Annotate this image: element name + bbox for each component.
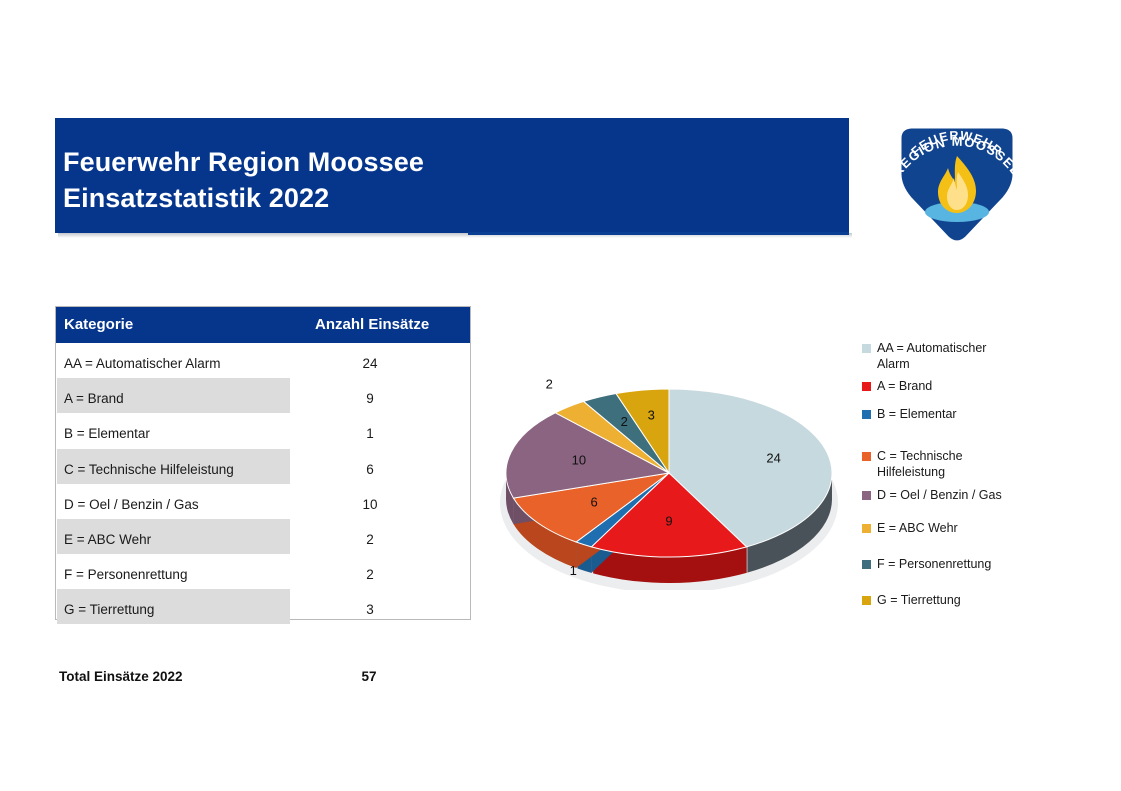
legend-item[interactable]: C = Technische Hilfeleistung [862, 448, 1007, 480]
table-cell-category: AA = Automatischer Alarm [64, 356, 220, 371]
table-cell-category: C = Technische Hilfeleistung [64, 462, 234, 477]
page-title-line2: Einsatzstatistik 2022 [63, 180, 849, 216]
legend-label: G = Tierrettung [877, 592, 961, 608]
table-row: G = Tierrettung3 [56, 589, 470, 624]
legend-label: D = Oel / Benzin / Gas [877, 487, 1002, 503]
slide-canvas: Feuerwehr Region Moossee Einsatzstatisti… [0, 0, 1121, 791]
table-header-count: Anzahl Einsätze [315, 316, 429, 333]
statistics-table: Kategorie Anzahl Einsätze AA = Automatis… [55, 306, 471, 620]
pie-data-label: 24 [766, 451, 780, 466]
table-cell-category: D = Oel / Benzin / Gas [64, 497, 199, 512]
pie-data-label: 2 [546, 376, 553, 391]
legend-item[interactable]: D = Oel / Benzin / Gas [862, 487, 1002, 503]
table-row: A = Brand9 [56, 378, 470, 413]
legend-color-swatch [862, 491, 871, 500]
table-cell-count: 3 [348, 602, 392, 617]
legend-label: E = ABC Wehr [877, 520, 958, 536]
total-row: Total Einsätze 2022 57 [55, 669, 471, 691]
banner-underline [468, 232, 849, 235]
pie-chart-svg: 2491610223 [486, 355, 856, 590]
pie-data-label: 3 [648, 408, 655, 423]
legend-color-swatch [862, 452, 871, 461]
table-row: D = Oel / Benzin / Gas10 [56, 484, 470, 519]
legend-label: AA = Automatischer Alarm [877, 340, 1007, 372]
table-cell-category: E = ABC Wehr [64, 532, 151, 547]
total-value: 57 [347, 669, 391, 684]
legend-label: B = Elementar [877, 406, 957, 422]
table-cell-category: B = Elementar [64, 426, 150, 441]
table-row: AA = Automatischer Alarm24 [56, 343, 470, 378]
table-cell-count: 2 [348, 567, 392, 582]
legend-color-swatch [862, 524, 871, 533]
table-cell-count: 1 [348, 426, 392, 441]
table-cell-category: A = Brand [64, 391, 124, 406]
feuerwehr-logo: FEUERWEHR REGION MOOSSEE [884, 112, 1030, 245]
legend-color-swatch [862, 344, 871, 353]
table-cell-category: F = Personenrettung [64, 567, 187, 582]
pie-data-label: 2 [621, 414, 628, 429]
legend-item[interactable]: B = Elementar [862, 406, 957, 422]
table-body: AA = Automatischer Alarm24A = Brand9B = … [56, 343, 470, 625]
table-cell-count: 24 [348, 356, 392, 371]
legend-item[interactable]: G = Tierrettung [862, 592, 961, 608]
legend-color-swatch [862, 410, 871, 419]
table-row: C = Technische Hilfeleistung6 [56, 449, 470, 484]
pie-chart: 2491610223 [486, 355, 856, 590]
table-header-category: Kategorie [64, 316, 133, 333]
table-cell-count: 9 [348, 391, 392, 406]
table-header-row: Kategorie Anzahl Einsätze [56, 307, 470, 343]
page-title-line1: Feuerwehr Region Moossee [63, 144, 849, 180]
table-row: E = ABC Wehr2 [56, 519, 470, 554]
legend-color-swatch [862, 382, 871, 391]
legend-color-swatch [862, 596, 871, 605]
table-row: B = Elementar1 [56, 413, 470, 448]
table-cell-count: 6 [348, 462, 392, 477]
pie-top-faces [506, 389, 832, 557]
legend-color-swatch [862, 560, 871, 569]
legend-item[interactable]: A = Brand [862, 378, 932, 394]
title-banner: Feuerwehr Region Moossee Einsatzstatisti… [55, 118, 849, 233]
legend-item[interactable]: E = ABC Wehr [862, 520, 958, 536]
pie-data-label: 10 [572, 453, 586, 468]
pie-data-label: 9 [665, 513, 672, 528]
pie-data-label: 6 [590, 495, 597, 510]
legend-item[interactable]: AA = Automatischer Alarm [862, 340, 1007, 372]
table-cell-category: G = Tierrettung [64, 602, 154, 617]
table-row: F = Personenrettung2 [56, 554, 470, 589]
table-cell-count: 2 [348, 532, 392, 547]
total-label: Total Einsätze 2022 [59, 669, 183, 684]
legend-label: A = Brand [877, 378, 932, 394]
legend-label: C = Technische Hilfeleistung [877, 448, 1007, 480]
legend-label: F = Personenrettung [877, 556, 991, 572]
legend-item[interactable]: F = Personenrettung [862, 556, 991, 572]
table-cell-count: 10 [348, 497, 392, 512]
logo-svg: FEUERWEHR REGION MOOSSEE [884, 112, 1030, 245]
pie-data-label: 1 [570, 563, 577, 578]
